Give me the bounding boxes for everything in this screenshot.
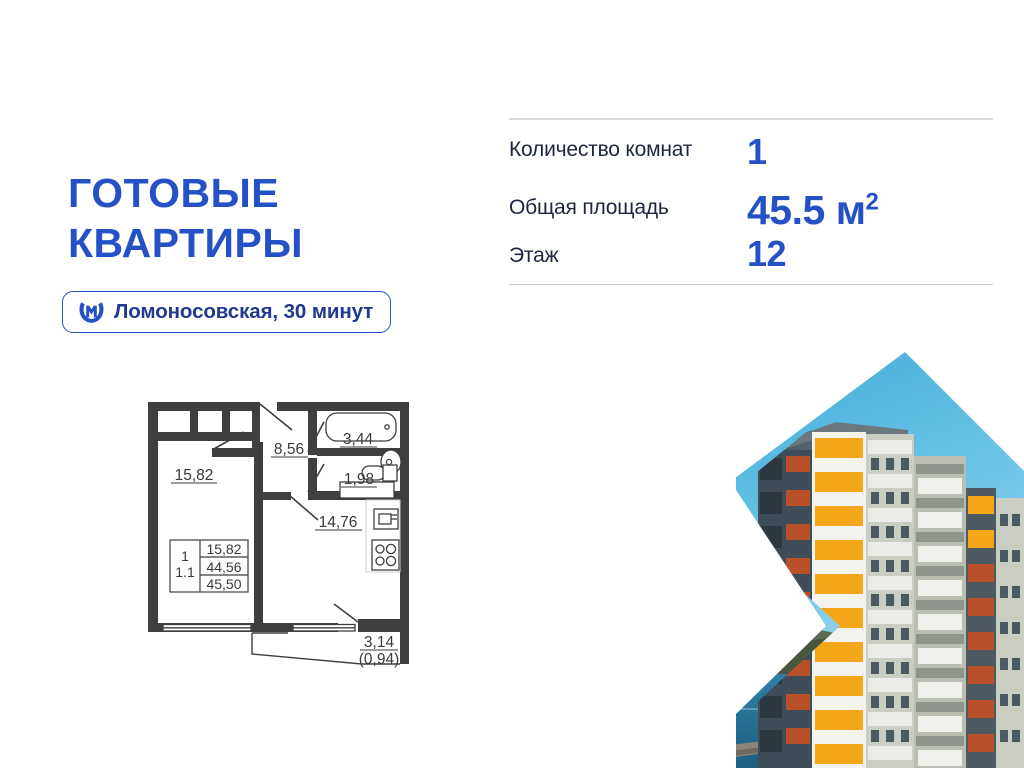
label-bathroom-area: 3,44 [343,431,374,448]
apartment-info-panel: Количество комнат 1 Общая площадь 45.5 м… [509,118,993,285]
label-living-room-area: 15,82 [175,467,214,484]
page-title-line-1: ГОТОВЫЕ [68,168,488,218]
metro-station-label: Ломоносовская, 30 минут [114,300,373,324]
label-kitchen-living-area: 14,76 [319,514,358,531]
info-row-area-superscript: 2 [866,188,879,215]
info-row-area-label: Общая площадь [509,190,747,221]
info-row-area-number: 45.5 м [747,187,866,233]
legend-living-area: 15,82 [206,541,241,557]
label-balcony-coefficient: (0,94) [359,651,400,668]
spb-metro-icon [78,300,105,325]
info-panel-divider-bottom [509,284,993,286]
info-row-rooms-value: 1 [747,132,767,170]
floor-plan[interactable]: 15,82 8,56 3,44 1,98 14,76 3,14 (0,94) 1 [126,392,446,682]
label-hall-area: 8,56 [274,441,304,458]
metro-station-badge[interactable]: Ломоносовская, 30 минут [62,291,391,333]
info-row-rooms-label: Количество комнат [509,132,747,163]
legend-apartment-number: 1 [181,548,189,564]
info-row-floor-value: 12 [747,236,786,272]
info-panel-rows: Количество комнат 1 Общая площадь 45.5 м… [509,120,993,284]
building-photo [640,338,1024,768]
stove-icon [372,540,399,570]
legend-apartment-type: 1.1 [175,564,195,580]
label-balcony-area: 3,14 [364,634,395,651]
page-title: ГОТОВЫЕ КВАРТИРЫ [68,168,488,268]
info-row-area-value: 45.5 м2 [747,190,878,231]
floor-plan-drawing: 15,82 8,56 3,44 1,98 14,76 3,14 (0,94) 1 [126,392,446,682]
kitchen-sink-icon [374,509,398,529]
legend-area-without-balcony: 44,56 [206,559,241,575]
info-row-floor-label: Этаж [509,236,747,269]
label-wc-area: 1,98 [344,471,374,488]
building-photo-graphic [640,338,1024,768]
legend-total-area: 45,50 [206,576,241,592]
info-row-floor: Этаж 12 [509,236,993,280]
page-title-line-2: КВАРТИРЫ [68,218,488,268]
info-row-rooms: Количество комнат 1 [509,132,993,176]
floor-plan-legend: 1 1.1 15,82 44,56 45,50 [170,540,248,592]
info-row-area: Общая площадь 45.5 м2 [509,190,993,234]
